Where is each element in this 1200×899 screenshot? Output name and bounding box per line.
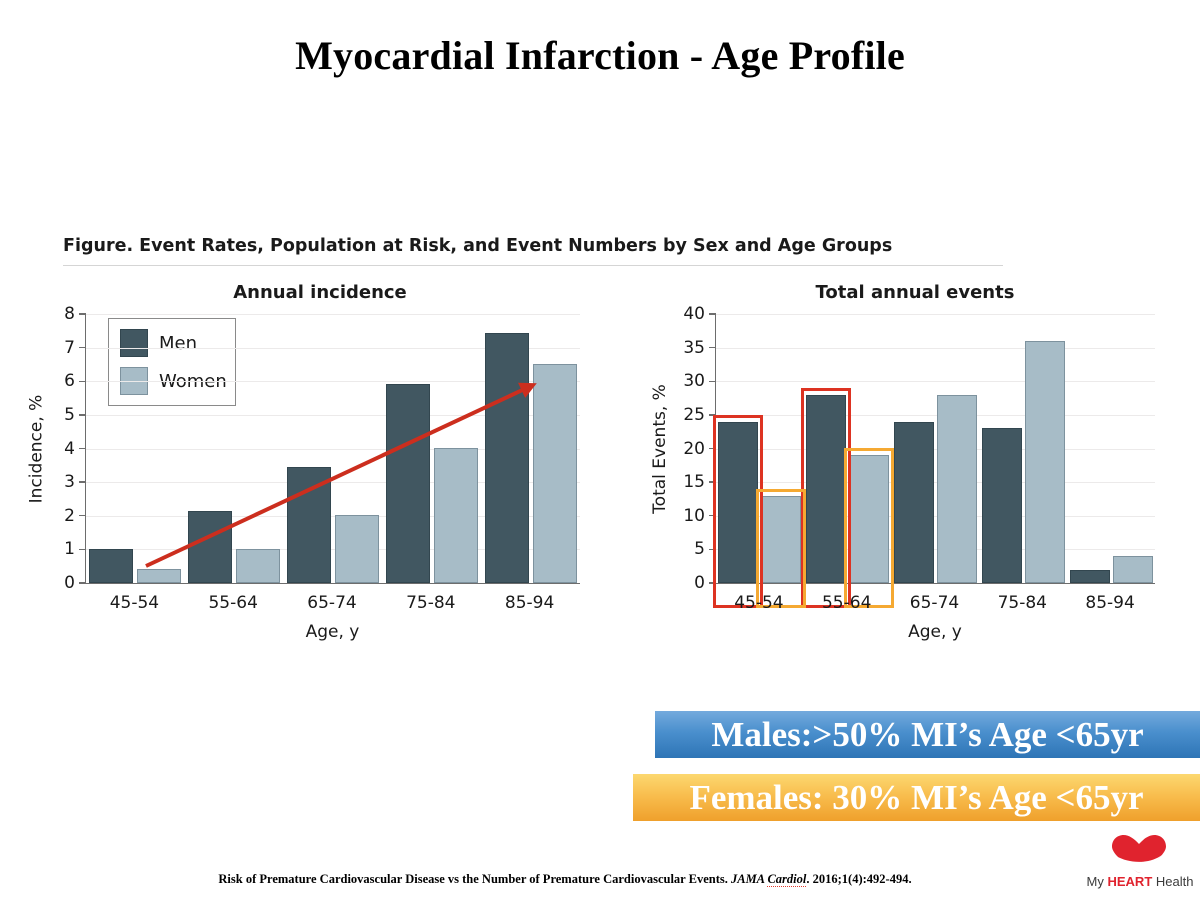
chart-total-annual-events: Total annual events Total Events, % 0510… (630, 282, 1200, 682)
y-axis-tick (79, 448, 86, 449)
x-axis-category-55-64: 55-64 (208, 593, 257, 613)
bar-women-65-74 (937, 395, 977, 583)
y-axis-title-left: Incidence, % (26, 394, 46, 503)
bar-men-55-64 (188, 511, 232, 583)
page-title: Myocardial Infarction - Age Profile (0, 32, 1200, 79)
y-axis-tick-label: 30 (683, 371, 705, 391)
y-axis-tick-label: 2 (64, 506, 75, 526)
legend-label-men: Men (159, 333, 197, 354)
gridline (716, 449, 1155, 450)
y-axis-tick (709, 347, 716, 348)
plot-area-right: 0510152025303540 (715, 314, 1155, 584)
bar-women-75-84 (434, 448, 478, 583)
footer-citation: Risk of Premature Cardiovascular Disease… (0, 872, 1130, 887)
x-axis-title-left: Age, y (85, 622, 580, 642)
legend-row-men: Men (120, 329, 197, 357)
chart-annual-incidence: Annual incidence Incidence, % Men Women … (10, 282, 630, 682)
y-axis-tick-label: 25 (683, 405, 705, 425)
legend-swatch-men (120, 329, 148, 357)
gridline (716, 415, 1155, 416)
citation-text-tail: . 2016;1(4):492-494. (806, 872, 911, 886)
bar-men-65-74 (287, 467, 331, 583)
bar-men-85-94 (1070, 570, 1110, 583)
citation-journal-flagged: Cardiol (767, 872, 806, 887)
gridline (716, 381, 1155, 382)
y-axis-tick (79, 414, 86, 415)
logo-word-my: My (1087, 874, 1108, 889)
highlight-box-women-45-54 (756, 489, 806, 608)
y-axis-title-right: Total Events, % (650, 384, 670, 514)
bar-men-65-74 (894, 422, 934, 583)
callout-banner-females: Females: 30% MI’s Age <65yr (633, 774, 1200, 821)
y-axis-tick-label: 4 (64, 439, 75, 459)
chart-title-right: Total annual events (630, 282, 1200, 303)
bar-women-65-74 (335, 515, 379, 583)
bar-men-75-84 (982, 428, 1022, 583)
citation-journal: JAMA (731, 872, 767, 886)
y-axis-tick-label: 35 (683, 338, 705, 358)
gridline (716, 314, 1155, 315)
y-axis-tick-label: 15 (683, 472, 705, 492)
plot-area-left: Men Women 012345678 (85, 314, 580, 584)
bar-men-85-94 (485, 333, 529, 583)
y-axis-tick (79, 313, 86, 314)
figure-block: Figure. Event Rates, Population at Risk,… (0, 228, 1200, 698)
bar-men-45-54 (89, 549, 133, 583)
y-axis-tick (709, 313, 716, 314)
caption-divider (63, 265, 1003, 266)
highlight-box-women-55-64 (844, 448, 894, 608)
bar-men-75-84 (386, 384, 430, 583)
y-axis-tick-label: 3 (64, 472, 75, 492)
brand-logo: My HEART Health (1086, 834, 1194, 894)
bar-women-55-64 (236, 549, 280, 583)
bar-women-45-54 (137, 569, 181, 583)
y-axis-tick-label: 8 (64, 304, 75, 324)
logo-word-heart: HEART (1107, 874, 1152, 889)
y-axis-tick (79, 515, 86, 516)
gridline (86, 314, 580, 315)
bar-women-85-94 (533, 364, 577, 583)
x-axis-category-65-74: 65-74 (910, 593, 959, 613)
y-axis-tick (79, 347, 86, 348)
gridline (716, 348, 1155, 349)
y-axis-tick-label: 40 (683, 304, 705, 324)
y-axis-tick (79, 381, 86, 382)
x-axis-category-85-94: 85-94 (505, 593, 554, 613)
citation-text-lead: Risk of Premature Cardiovascular Disease… (218, 872, 731, 886)
callout-banner-males: Males:>50% MI’s Age <65yr (655, 711, 1200, 758)
y-axis-tick-label: 1 (64, 539, 75, 559)
x-axis-category-75-84: 75-84 (406, 593, 455, 613)
x-axis-title-right: Age, y (715, 622, 1155, 642)
logo-wordmark: My HEART Health (1086, 874, 1194, 889)
y-axis-tick-label: 5 (64, 405, 75, 425)
y-axis-tick-label: 6 (64, 371, 75, 391)
bar-women-85-94 (1113, 556, 1153, 583)
y-axis-tick (709, 381, 716, 382)
y-axis-tick (79, 481, 86, 482)
heart-icon (1110, 834, 1168, 874)
chart-title-left: Annual incidence (10, 282, 630, 303)
gridline (716, 482, 1155, 483)
x-axis-category-55-64: 55-64 (822, 593, 871, 613)
y-axis-tick-label: 7 (64, 338, 75, 358)
figure-caption: Figure. Event Rates, Population at Risk,… (63, 236, 1063, 256)
y-axis-tick-label: 5 (694, 539, 705, 559)
logo-word-health: Health (1152, 874, 1193, 889)
bar-women-75-84 (1025, 341, 1065, 583)
x-axis-category-45-54: 45-54 (110, 593, 159, 613)
x-axis-category-75-84: 75-84 (998, 593, 1047, 613)
x-axis-category-65-74: 65-74 (307, 593, 356, 613)
y-axis-tick (79, 582, 86, 583)
x-axis-category-85-94: 85-94 (1085, 593, 1134, 613)
chart-legend: Men Women (108, 318, 236, 406)
y-axis-tick-label: 0 (694, 573, 705, 593)
y-axis-tick-label: 20 (683, 439, 705, 459)
x-axis-category-45-54: 45-54 (734, 593, 783, 613)
y-axis-tick-label: 0 (64, 573, 75, 593)
y-axis-tick (79, 549, 86, 550)
y-axis-tick-label: 10 (683, 506, 705, 526)
